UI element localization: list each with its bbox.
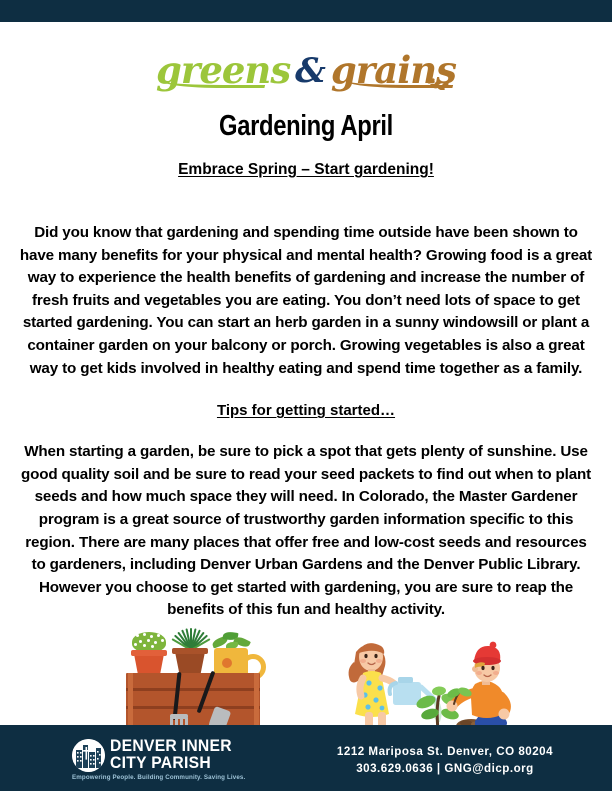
subheading-tips: Tips for getting started… (0, 402, 612, 419)
dicp-logo-line-2: CITY PARISH (110, 755, 232, 772)
dicp-logo-line-1: DENVER INNER (110, 738, 232, 755)
footer-contact-block: 1212 Mariposa St. Denver, CO 80204 303.6… (300, 743, 590, 777)
body-paragraph-1: Did you know that gardening and spending… (17, 222, 595, 380)
white-flowers-icon (134, 633, 164, 647)
spiky-grass-plant-icon (168, 624, 214, 650)
girl-figure (349, 643, 400, 738)
brand-ampersand: & (290, 51, 331, 91)
brand-lockup: greens&grains (156, 52, 456, 89)
boy-figure (446, 642, 515, 738)
crate-post (254, 673, 259, 729)
footer-phone-email[interactable]: 303.629.0636 | GNG@dicp.org (300, 760, 590, 777)
dicp-emblem-icon (72, 739, 105, 772)
footer-address: 1212 Mariposa St. Denver, CO 80204 (300, 743, 590, 760)
page-title: Gardening April (55, 110, 557, 143)
footer-bar: DENVER INNER CITY PARISH Empowering Peop… (0, 725, 612, 791)
crate-slat-line (126, 688, 260, 691)
mug-decoration-icon (222, 658, 232, 668)
crate-post (128, 673, 133, 729)
dicp-tagline: Empowering People. Building Community. S… (72, 774, 245, 781)
dicp-logo: DENVER INNER CITY PARISH Empowering Peop… (72, 738, 247, 782)
wheat-stalk-icon (425, 74, 459, 90)
brown-pot-rim-icon (172, 648, 208, 654)
body-paragraph-2: When starting a garden, be sure to pick … (17, 441, 595, 622)
wooden-crate-icon (126, 673, 260, 729)
subheading-embrace-spring: Embrace Spring – Start gardening! (0, 161, 612, 179)
dicp-logo-text: DENVER INNER CITY PARISH (110, 738, 238, 771)
document-page: greens&grains Gardening April Embrace Sp… (0, 22, 612, 725)
crate-slat-line (126, 706, 260, 709)
emblem-cityscape-icon (72, 739, 105, 772)
greens-and-grains-logo: greens&grains (0, 52, 612, 104)
top-accent-bar (0, 0, 612, 22)
terracotta-pot-rim-icon (131, 650, 167, 656)
